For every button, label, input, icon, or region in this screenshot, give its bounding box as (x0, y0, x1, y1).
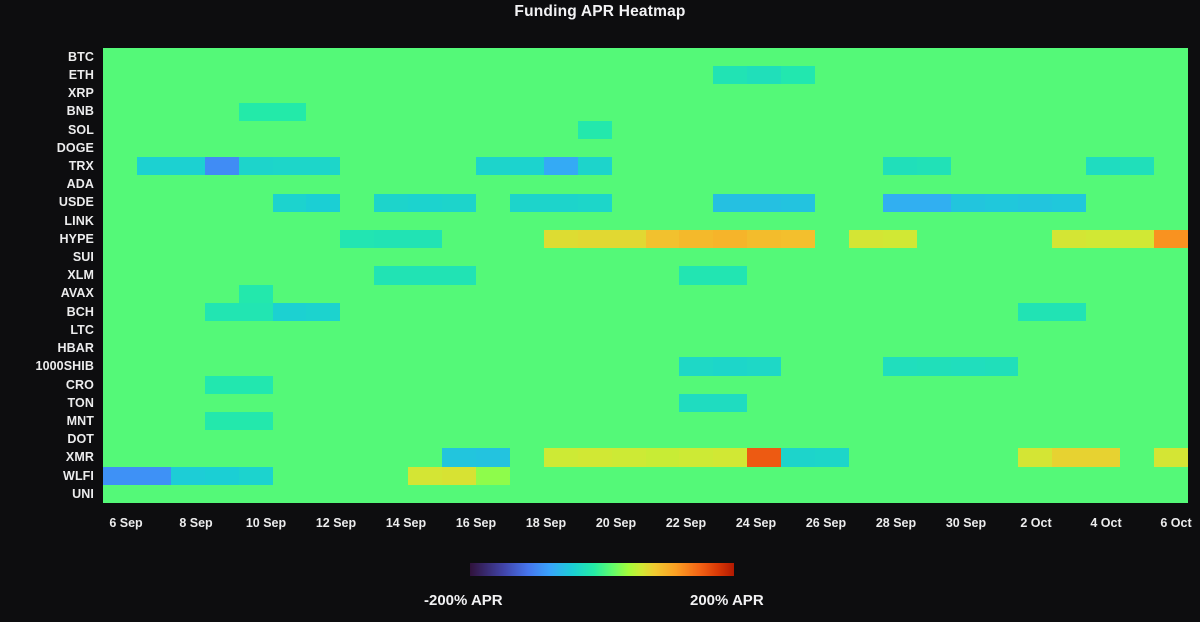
heatmap-cell (781, 357, 815, 375)
heatmap-cell (1018, 84, 1052, 102)
heatmap-cell (408, 248, 442, 266)
heatmap-cell (1154, 248, 1188, 266)
heatmap-cell (544, 321, 578, 339)
heatmap-cell (171, 266, 205, 284)
heatmap-cell (103, 303, 137, 321)
heatmap-cell (1018, 430, 1052, 448)
heatmap-cell (917, 248, 951, 266)
heatmap-cell (137, 139, 171, 157)
heatmap-cell (1154, 303, 1188, 321)
heatmap-cell (917, 285, 951, 303)
heatmap-cell (408, 212, 442, 230)
heatmap-cell (612, 266, 646, 284)
heatmap-cell (679, 139, 713, 157)
heatmap-cell (1052, 194, 1086, 212)
heatmap-cell (340, 412, 374, 430)
heatmap-cell (476, 175, 510, 193)
heatmap-cell (747, 412, 781, 430)
heatmap-cell (510, 266, 544, 284)
heatmap-cell (510, 175, 544, 193)
heatmap-cell (306, 430, 340, 448)
heatmap-cell (713, 103, 747, 121)
heatmap-cell (883, 66, 917, 84)
heatmap-cell (578, 121, 612, 139)
heatmap-cell (408, 230, 442, 248)
heatmap-cell (612, 139, 646, 157)
heatmap-cell (1052, 48, 1086, 66)
heatmap-cell (951, 103, 985, 121)
heatmap-cell (612, 103, 646, 121)
heatmap-cell (137, 84, 171, 102)
heatmap-cell (306, 339, 340, 357)
heatmap-cell (374, 485, 408, 503)
heatmap-cell (306, 103, 340, 121)
heatmap-cell (1154, 339, 1188, 357)
heatmap-cell (544, 266, 578, 284)
heatmap-cell (951, 357, 985, 375)
heatmap-cell (1018, 103, 1052, 121)
heatmap-cell (306, 157, 340, 175)
heatmap-cell (408, 394, 442, 412)
heatmap-cell (544, 103, 578, 121)
heatmap-cell (781, 303, 815, 321)
heatmap-cell (137, 485, 171, 503)
heatmap-cell (239, 485, 273, 503)
heatmap-cell (205, 66, 239, 84)
heatmap-cell (442, 66, 476, 84)
heatmap-cell (205, 339, 239, 357)
heatmap-cell (646, 430, 680, 448)
heatmap-cell (340, 339, 374, 357)
heatmap-cell (1086, 357, 1120, 375)
heatmap-cell (306, 467, 340, 485)
heatmap-cell (205, 266, 239, 284)
heatmap-cell (544, 394, 578, 412)
heatmap-cell (713, 467, 747, 485)
heatmap-cell (340, 394, 374, 412)
heatmap-cell (917, 48, 951, 66)
heatmap-cell (1052, 376, 1086, 394)
heatmap-cell (340, 357, 374, 375)
heatmap-cell (442, 139, 476, 157)
heatmap-cell (1120, 357, 1154, 375)
heatmap-cell (646, 394, 680, 412)
heatmap-cell (137, 467, 171, 485)
heatmap-cell (544, 303, 578, 321)
heatmap-cell (849, 230, 883, 248)
heatmap-cell (137, 248, 171, 266)
heatmap-cell (340, 121, 374, 139)
heatmap-cell (713, 248, 747, 266)
heatmap-cell (476, 157, 510, 175)
heatmap-cell (713, 212, 747, 230)
heatmap-cell (408, 194, 442, 212)
heatmap-cell (883, 248, 917, 266)
heatmap-cell (646, 357, 680, 375)
heatmap-cell (306, 376, 340, 394)
heatmap-cell (781, 84, 815, 102)
heatmap-cell (408, 285, 442, 303)
heatmap-cell (442, 448, 476, 466)
heatmap-cell (340, 84, 374, 102)
heatmap-cell (1120, 430, 1154, 448)
heatmap-cell (544, 139, 578, 157)
heatmap-cell (544, 248, 578, 266)
heatmap-cell (917, 194, 951, 212)
heatmap-cell (340, 266, 374, 284)
heatmap-cell (815, 230, 849, 248)
heatmap-cell (1052, 485, 1086, 503)
heatmap-cell (578, 103, 612, 121)
heatmap-cell (374, 357, 408, 375)
heatmap-cell (578, 303, 612, 321)
heatmap-cell (815, 157, 849, 175)
heatmap-cell (103, 194, 137, 212)
heatmap-cell (340, 467, 374, 485)
heatmap-cell (171, 230, 205, 248)
heatmap-cell (679, 157, 713, 175)
heatmap-cell (544, 467, 578, 485)
heatmap-cell (781, 139, 815, 157)
heatmap-cell (985, 485, 1019, 503)
heatmap-cell (510, 66, 544, 84)
heatmap-cell (442, 412, 476, 430)
heatmap-cell (781, 175, 815, 193)
heatmap-cell (544, 66, 578, 84)
heatmap-cell (306, 485, 340, 503)
heatmap-cell (815, 121, 849, 139)
heatmap-cell (883, 139, 917, 157)
heatmap-cell (849, 121, 883, 139)
heatmap-cell (1086, 266, 1120, 284)
x-tick-label: 6 Sep (109, 516, 142, 530)
heatmap-cell (137, 230, 171, 248)
heatmap-cell (374, 103, 408, 121)
heatmap-cell (1086, 376, 1120, 394)
heatmap-cell (747, 84, 781, 102)
heatmap-cell (374, 248, 408, 266)
heatmap-cell (510, 48, 544, 66)
heatmap-cell (578, 194, 612, 212)
heatmap-cell (917, 448, 951, 466)
heatmap-cell (985, 412, 1019, 430)
heatmap-cell (713, 303, 747, 321)
heatmap-cell (103, 430, 137, 448)
heatmap-cell (239, 376, 273, 394)
heatmap-cell (815, 430, 849, 448)
heatmap-cell (747, 394, 781, 412)
heatmap-cell (408, 339, 442, 357)
heatmap-cell (883, 394, 917, 412)
y-tick-label: TRX (0, 157, 95, 175)
heatmap-cell (374, 175, 408, 193)
heatmap-cell (679, 321, 713, 339)
heatmap-cell (476, 84, 510, 102)
heatmap-cell (171, 485, 205, 503)
heatmap-cell (849, 430, 883, 448)
heatmap-cell (239, 48, 273, 66)
heatmap-cell (1018, 48, 1052, 66)
heatmap-cell (1120, 321, 1154, 339)
heatmap-cell (273, 248, 307, 266)
heatmap-cell (476, 248, 510, 266)
heatmap-cell (1018, 339, 1052, 357)
heatmap-cell (273, 467, 307, 485)
heatmap-cell (781, 157, 815, 175)
heatmap-cell (1154, 175, 1188, 193)
heatmap-cell (917, 84, 951, 102)
heatmap-cell (985, 266, 1019, 284)
heatmap-cell (476, 394, 510, 412)
heatmap-cell (985, 66, 1019, 84)
heatmap-cell (1052, 230, 1086, 248)
heatmap-cell (917, 485, 951, 503)
heatmap-cell (544, 448, 578, 466)
heatmap-cell (374, 303, 408, 321)
heatmap-cell (578, 285, 612, 303)
heatmap-cell (917, 467, 951, 485)
y-tick-label: 1000SHIB (0, 357, 95, 375)
heatmap-cell (747, 448, 781, 466)
heatmap-cell (985, 230, 1019, 248)
heatmap-cell (1052, 303, 1086, 321)
heatmap-cell (408, 376, 442, 394)
heatmap-cell (578, 467, 612, 485)
heatmap-cell (510, 103, 544, 121)
heatmap-cell (679, 248, 713, 266)
heatmap-cell (476, 376, 510, 394)
heatmap-cell (442, 48, 476, 66)
heatmap-cell (544, 84, 578, 102)
heatmap-cell (1052, 212, 1086, 230)
heatmap-cell (849, 285, 883, 303)
heatmap-cell (273, 357, 307, 375)
heatmap-cell (239, 339, 273, 357)
heatmap-cell (171, 376, 205, 394)
heatmap-cell (442, 394, 476, 412)
heatmap-cell (374, 394, 408, 412)
heatmap-cell (544, 412, 578, 430)
heatmap-cell (239, 303, 273, 321)
heatmap-cell (476, 412, 510, 430)
heatmap-cell (1052, 467, 1086, 485)
heatmap-cell (679, 48, 713, 66)
heatmap-cell (1154, 194, 1188, 212)
heatmap-cell (137, 66, 171, 84)
heatmap-cell (544, 376, 578, 394)
heatmap-cell (442, 467, 476, 485)
heatmap-cell (1154, 139, 1188, 157)
heatmap-cell (171, 194, 205, 212)
heatmap-cell (1154, 230, 1188, 248)
heatmap-cell (374, 139, 408, 157)
heatmap-cell (476, 430, 510, 448)
heatmap-cell (917, 394, 951, 412)
y-tick-label: CRO (0, 376, 95, 394)
heatmap-cell (374, 339, 408, 357)
heatmap-cell (1154, 66, 1188, 84)
heatmap-cell (273, 448, 307, 466)
heatmap-cell (103, 357, 137, 375)
heatmap-cell (849, 394, 883, 412)
heatmap-plot[interactable] (103, 48, 1188, 503)
heatmap-cell (815, 467, 849, 485)
heatmap-cell (1018, 285, 1052, 303)
heatmap-cell (1052, 66, 1086, 84)
heatmap-cell (883, 303, 917, 321)
heatmap-cell (306, 412, 340, 430)
heatmap-cell (646, 230, 680, 248)
heatmap-cell (781, 485, 815, 503)
heatmap-cell (544, 230, 578, 248)
heatmap-cell (205, 175, 239, 193)
heatmap-cell (646, 448, 680, 466)
heatmap-cell (951, 321, 985, 339)
heatmap-cell (103, 157, 137, 175)
heatmap-cell (747, 467, 781, 485)
heatmap-cell (951, 157, 985, 175)
heatmap-cell (273, 266, 307, 284)
heatmap-cell (239, 430, 273, 448)
heatmap-cell (679, 194, 713, 212)
heatmap-cell (273, 394, 307, 412)
heatmap-cell (646, 66, 680, 84)
heatmap-cell (374, 84, 408, 102)
y-tick-label: XMR (0, 448, 95, 466)
heatmap-cell (985, 194, 1019, 212)
heatmap-cell (612, 175, 646, 193)
heatmap-cell (340, 175, 374, 193)
heatmap-cell (849, 248, 883, 266)
heatmap-cell (273, 303, 307, 321)
heatmap-cell (1120, 212, 1154, 230)
heatmap-cell (646, 266, 680, 284)
heatmap-cell (239, 285, 273, 303)
heatmap-cell (612, 339, 646, 357)
heatmap-cell (713, 66, 747, 84)
heatmap-cell (205, 357, 239, 375)
heatmap-cell (510, 212, 544, 230)
heatmap-cell (917, 303, 951, 321)
heatmap-cell (646, 248, 680, 266)
heatmap-cell (442, 248, 476, 266)
heatmap-cell (171, 157, 205, 175)
heatmap-cell (171, 48, 205, 66)
heatmap-cell (985, 84, 1019, 102)
heatmap-cell (883, 103, 917, 121)
heatmap-cell (1120, 376, 1154, 394)
heatmap-cell (442, 321, 476, 339)
heatmap-cell (781, 121, 815, 139)
heatmap-cell (510, 303, 544, 321)
heatmap-cell (646, 194, 680, 212)
heatmap-cell (137, 303, 171, 321)
heatmap-cell (273, 175, 307, 193)
heatmap-cell (883, 430, 917, 448)
heatmap-cell (239, 84, 273, 102)
heatmap-cell (306, 266, 340, 284)
heatmap-cell (646, 139, 680, 157)
heatmap-cell (917, 103, 951, 121)
heatmap-cell (306, 303, 340, 321)
heatmap-cell (612, 230, 646, 248)
heatmap-cell (510, 248, 544, 266)
heatmap-cell (883, 175, 917, 193)
heatmap-cell (849, 194, 883, 212)
heatmap-cell (951, 467, 985, 485)
heatmap-cell (747, 66, 781, 84)
heatmap-cell (679, 394, 713, 412)
heatmap-cell (340, 103, 374, 121)
heatmap-cell (340, 285, 374, 303)
heatmap-cell (951, 175, 985, 193)
heatmap-cell (985, 48, 1019, 66)
heatmap-cell (985, 394, 1019, 412)
heatmap-cell (815, 48, 849, 66)
heatmap-cell (408, 412, 442, 430)
heatmap-cell (781, 212, 815, 230)
x-tick-label: 2 Oct (1020, 516, 1051, 530)
heatmap-cell (205, 48, 239, 66)
heatmap-cell (985, 285, 1019, 303)
heatmap-cell (374, 467, 408, 485)
heatmap-cell (340, 230, 374, 248)
heatmap-cell (917, 412, 951, 430)
heatmap-cell (137, 321, 171, 339)
heatmap-cell (951, 448, 985, 466)
heatmap-cell (103, 339, 137, 357)
y-tick-label: DOT (0, 430, 95, 448)
heatmap-cell (273, 485, 307, 503)
heatmap-cell (340, 139, 374, 157)
heatmap-cell (646, 467, 680, 485)
heatmap-cell (239, 230, 273, 248)
heatmap-cell (1120, 339, 1154, 357)
heatmap-cell (951, 303, 985, 321)
heatmap-cell (103, 84, 137, 102)
heatmap-cell (849, 84, 883, 102)
heatmap-cell (205, 121, 239, 139)
heatmap-cell (544, 285, 578, 303)
heatmap-cell (476, 303, 510, 321)
heatmap-cell (1086, 121, 1120, 139)
heatmap-cell (815, 103, 849, 121)
heatmap-cell (442, 157, 476, 175)
heatmap-cell (612, 321, 646, 339)
heatmap-cell (883, 467, 917, 485)
heatmap-cell (883, 321, 917, 339)
heatmap-cell (137, 175, 171, 193)
heatmap-cell (713, 48, 747, 66)
colorbar-gradient (470, 563, 734, 576)
heatmap-cell (239, 357, 273, 375)
heatmap-cell (1086, 485, 1120, 503)
heatmap-cell (747, 285, 781, 303)
heatmap-cell (1052, 121, 1086, 139)
y-tick-label: SUI (0, 248, 95, 266)
heatmap-cell (1154, 485, 1188, 503)
heatmap-cell (306, 321, 340, 339)
heatmap-cell (273, 84, 307, 102)
heatmap-cell (103, 448, 137, 466)
heatmap-cell (781, 412, 815, 430)
heatmap-cell (646, 175, 680, 193)
heatmap-cell (273, 412, 307, 430)
heatmap-cell (917, 175, 951, 193)
heatmap-cell (713, 448, 747, 466)
heatmap-cell (1018, 357, 1052, 375)
heatmap-cell (679, 339, 713, 357)
